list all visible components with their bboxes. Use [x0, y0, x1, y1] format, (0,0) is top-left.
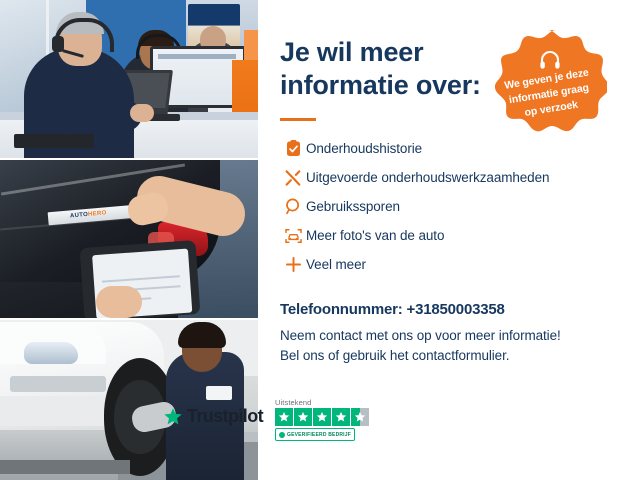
plus-icon: [280, 254, 306, 276]
headset-icon: [539, 50, 561, 70]
photo-car-inspection: AUTOHERO: [0, 160, 258, 318]
trustpilot-wordmark: Trustpilot: [187, 406, 263, 427]
star-2: [294, 408, 312, 426]
trustpilot-star-icon: [163, 407, 183, 427]
feature-label: Gebruikssporen: [306, 199, 400, 214]
trustpilot-logo: Trustpilot: [163, 406, 263, 427]
feature-list: Onderhoudshistorie Uitgevoerde onderhoud…: [280, 134, 632, 279]
title-divider: [280, 118, 316, 121]
feature-label: Uitgevoerde onderhoudswerkzaamheden: [306, 170, 549, 185]
car-scan-icon: [280, 225, 306, 247]
feature-item-onderhoudswerkzaamheden: Uitgevoerde onderhoudswerkzaamheden: [280, 163, 632, 192]
tools-icon: [280, 167, 306, 189]
verified-label: GEVERIFIEERD BEDRIJF: [287, 432, 351, 438]
star-3: [313, 408, 331, 426]
trustpilot-widget[interactable]: Trustpilot Uitstekend GEVERIFIEERD BEDRI…: [163, 398, 373, 444]
promo-banner: AUTOHERO Je wil meer informatie over:: [0, 0, 640, 480]
autohero-ruler-label: AUTOHERO: [70, 209, 107, 221]
page-title: Je wil meer informatie over:: [280, 36, 500, 102]
phone-number[interactable]: Telefoonnummer: +31850003358: [280, 301, 505, 318]
feature-label: Onderhoudshistorie: [306, 141, 422, 156]
feature-label: Veel meer: [306, 257, 366, 272]
verified-company-badge: GEVERIFIEERD BEDRIJF: [275, 428, 355, 441]
feature-item-veel-meer: Veel meer: [280, 250, 632, 279]
star-5-half: [351, 408, 369, 426]
clipboard-check-icon: [280, 138, 306, 160]
trustpilot-stars: [275, 408, 369, 426]
feature-label: Meer foto's van de auto: [306, 228, 444, 243]
feature-item-gebruikssporen: Gebruikssporen: [280, 192, 632, 221]
magnifier-icon: [280, 196, 306, 218]
trustpilot-rating-label: Uitstekend: [275, 398, 311, 407]
callout-badge: We geven je deze informatie graag op ver…: [489, 28, 607, 148]
check-icon: [279, 432, 285, 438]
photo-call-center: [0, 0, 258, 158]
contact-line-1: Neem contact met ons op voor meer inform…: [280, 328, 561, 343]
star-4: [332, 408, 350, 426]
contact-line-2: Bel ons of gebruik het contactformulier.: [280, 348, 509, 363]
feature-item-foto-auto: Meer foto's van de auto: [280, 221, 632, 250]
star-1: [275, 408, 293, 426]
